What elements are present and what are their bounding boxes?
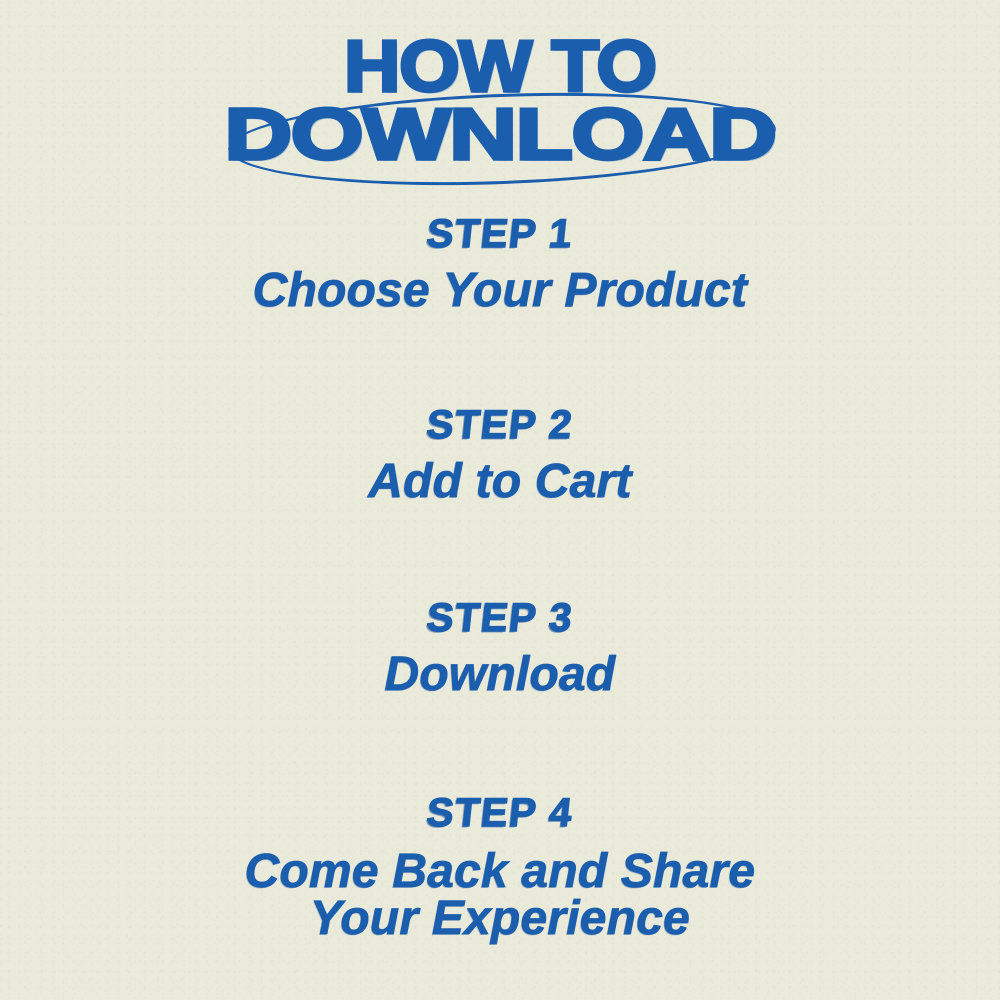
step-label-2: STEP 2 bbox=[425, 404, 576, 446]
step-item-1: STEP 1 Choose Your Product bbox=[0, 205, 1000, 316]
step-text-2: Add to Cart bbox=[0, 458, 1000, 507]
step-label-4: STEP 4 bbox=[425, 792, 576, 834]
step-text-3: Download bbox=[0, 651, 1000, 700]
steps-list: STEP 1 Choose Your Product STEP 2 Add to… bbox=[0, 205, 1000, 942]
step-item-3: STEP 3 Download bbox=[0, 507, 1000, 700]
step-text-line: Come Back and Share bbox=[0, 848, 1000, 895]
step-text-line: Your Experience bbox=[0, 895, 1000, 942]
step-text-4: Come Back and Share Your Experience bbox=[0, 848, 1000, 942]
step-label-1: STEP 1 bbox=[425, 213, 576, 255]
step-text-line: Download bbox=[0, 651, 1000, 700]
page-title-line-1: HOW TO bbox=[0, 34, 1000, 100]
step-item-4: STEP 4 Come Back and Share Your Experien… bbox=[0, 700, 1000, 942]
step-text-line: Add to Cart bbox=[0, 458, 1000, 507]
step-label-3: STEP 3 bbox=[425, 597, 576, 639]
step-item-2: STEP 2 Add to Cart bbox=[0, 316, 1000, 507]
step-text-line: Choose Your Product bbox=[0, 267, 1000, 316]
step-text-1: Choose Your Product bbox=[0, 267, 1000, 316]
page-title-line-2: DOWNLOAD bbox=[0, 102, 1000, 168]
how-to-download-poster: HOW TO DOWNLOAD STEP 1 Choose Your Produ… bbox=[0, 0, 1000, 1000]
headline-block: HOW TO DOWNLOAD bbox=[0, 34, 1000, 168]
